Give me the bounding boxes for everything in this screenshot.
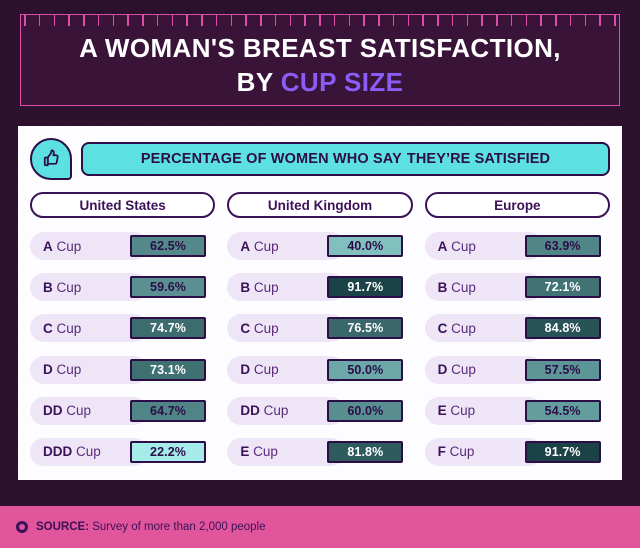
table-row: A Cup63.9% — [425, 232, 610, 260]
cup-size-label: E Cup — [425, 403, 476, 418]
source-label: SOURCE: — [36, 521, 89, 533]
infographic-stage: A WOMAN'S BREAST SATISFACTION, BY CUP SI… — [0, 0, 640, 548]
table-row: B Cup72.1% — [425, 273, 610, 301]
banner-text-heavy: THEY’RE SATISFIED — [407, 151, 550, 167]
cup-word: Cup — [53, 280, 82, 295]
column-united-states: United StatesA Cup62.5%B Cup59.6%C Cup74… — [30, 192, 215, 470]
column-europe: EuropeA Cup63.9%B Cup72.1%C Cup84.8%D Cu… — [425, 192, 610, 470]
cup-size-label: C Cup — [227, 321, 278, 336]
cup-word: Cup — [447, 362, 476, 377]
table-row: DD Cup60.0% — [227, 397, 412, 425]
cup-letter: C — [43, 321, 53, 336]
cup-letter: DD — [43, 403, 63, 418]
percentage-bar: 50.0% — [327, 359, 403, 381]
percentage-bar: 72.1% — [525, 276, 601, 298]
percentage-bar: 91.7% — [525, 441, 601, 463]
thumbs-up-icon — [30, 138, 72, 180]
cup-letter: B — [438, 280, 448, 295]
title-frame: A WOMAN'S BREAST SATISFACTION, BY CUP SI… — [20, 14, 620, 106]
page-title: A WOMAN'S BREAST SATISFACTION, BY CUP SI… — [21, 32, 619, 100]
cup-word: Cup — [53, 321, 82, 336]
percentage-bar: 22.2% — [130, 441, 206, 463]
cup-letter: A — [43, 239, 53, 254]
cup-letter: A — [438, 239, 448, 254]
cup-size-label: B Cup — [30, 280, 81, 295]
cup-letter: E — [240, 444, 249, 459]
cup-word: Cup — [250, 239, 279, 254]
column-header[interactable]: United States — [30, 192, 215, 218]
cup-word: Cup — [63, 403, 92, 418]
cup-letter: B — [240, 280, 250, 295]
cup-size-label: C Cup — [425, 321, 476, 336]
table-row: E Cup54.5% — [425, 397, 610, 425]
banner-row: PERCENTAGE OF WOMEN WHO SAY THEY’RE SATI… — [30, 138, 610, 180]
cup-letter: C — [438, 321, 448, 336]
percentage-bar: 64.7% — [130, 400, 206, 422]
title-line-1: A WOMAN'S BREAST SATISFACTION, — [21, 32, 619, 66]
column-united-kingdom: United KingdomA Cup40.0%B Cup91.7%C Cup7… — [227, 192, 412, 470]
banner-label: PERCENTAGE OF WOMEN WHO SAY THEY’RE SATI… — [81, 142, 610, 176]
title-line-2-accent: CUP SIZE — [281, 67, 404, 97]
cup-letter: B — [43, 280, 53, 295]
title-line-2-prefix: BY — [237, 67, 273, 97]
table-row: DD Cup64.7% — [30, 397, 215, 425]
percentage-bar: 91.7% — [327, 276, 403, 298]
percentage-bar: 62.5% — [130, 235, 206, 257]
cup-size-label: A Cup — [227, 239, 278, 254]
cup-size-label: D Cup — [227, 362, 278, 377]
column-rows: A Cup40.0%B Cup91.7%C Cup76.5%D Cup50.0%… — [227, 232, 412, 470]
cup-size-label: C Cup — [30, 321, 81, 336]
cup-size-label: DDD Cup — [30, 444, 101, 459]
cup-letter: D — [438, 362, 448, 377]
cup-word: Cup — [250, 280, 279, 295]
source-footer: SOURCE: Survey of more than 2,000 people — [0, 506, 640, 548]
percentage-bar: 74.7% — [130, 317, 206, 339]
table-row: C Cup76.5% — [227, 314, 412, 342]
table-row: B Cup91.7% — [227, 273, 412, 301]
cup-word: Cup — [249, 444, 278, 459]
banner-text-light: PERCENTAGE OF WOMEN WHO SAY — [141, 151, 402, 167]
percentage-bar: 54.5% — [525, 400, 601, 422]
percentage-bar: 76.5% — [327, 317, 403, 339]
cup-size-label: F Cup — [425, 444, 475, 459]
cup-letter: D — [240, 362, 250, 377]
cup-word: Cup — [447, 321, 476, 336]
source-ring-icon — [16, 521, 28, 533]
cup-size-label: D Cup — [425, 362, 476, 377]
cup-letter: A — [240, 239, 250, 254]
cup-word: Cup — [447, 239, 476, 254]
cup-size-label: A Cup — [30, 239, 81, 254]
cup-letter: C — [240, 321, 250, 336]
cup-size-label: DD Cup — [227, 403, 288, 418]
cup-size-label: D Cup — [30, 362, 81, 377]
table-row: D Cup50.0% — [227, 356, 412, 384]
table-row: F Cup91.7% — [425, 438, 610, 466]
cup-letter: DD — [240, 403, 260, 418]
cup-size-label: A Cup — [425, 239, 476, 254]
cup-size-label: B Cup — [227, 280, 278, 295]
percentage-bar: 57.5% — [525, 359, 601, 381]
percentage-bar: 40.0% — [327, 235, 403, 257]
cup-letter: D — [43, 362, 53, 377]
cup-word: Cup — [53, 239, 82, 254]
ruler-ticks — [21, 15, 619, 26]
table-row: D Cup57.5% — [425, 356, 610, 384]
column-header[interactable]: Europe — [425, 192, 610, 218]
source-text: SOURCE: Survey of more than 2,000 people — [36, 521, 266, 533]
column-rows: A Cup63.9%B Cup72.1%C Cup84.8%D Cup57.5%… — [425, 232, 610, 470]
cup-word: Cup — [72, 444, 101, 459]
percentage-bar: 59.6% — [130, 276, 206, 298]
column-header[interactable]: United Kingdom — [227, 192, 412, 218]
cup-size-label: B Cup — [425, 280, 476, 295]
percentage-bar: 60.0% — [327, 400, 403, 422]
content-card: PERCENTAGE OF WOMEN WHO SAY THEY’RE SATI… — [18, 126, 622, 480]
table-row: B Cup59.6% — [30, 273, 215, 301]
percentage-bar: 81.8% — [327, 441, 403, 463]
table-row: D Cup73.1% — [30, 356, 215, 384]
cup-word: Cup — [250, 321, 279, 336]
percentage-bar: 73.1% — [130, 359, 206, 381]
cup-size-label: E Cup — [227, 444, 278, 459]
percentage-bar: 63.9% — [525, 235, 601, 257]
cup-word: Cup — [447, 403, 476, 418]
cup-size-label: DD Cup — [30, 403, 91, 418]
table-row: C Cup84.8% — [425, 314, 610, 342]
table-row: E Cup81.8% — [227, 438, 412, 466]
table-row: A Cup62.5% — [30, 232, 215, 260]
table-row: C Cup74.7% — [30, 314, 215, 342]
table-row: A Cup40.0% — [227, 232, 412, 260]
cup-word: Cup — [250, 362, 279, 377]
cup-letter: E — [438, 403, 447, 418]
cup-word: Cup — [447, 280, 476, 295]
cup-word: Cup — [446, 444, 475, 459]
table-row: DDD Cup22.2% — [30, 438, 215, 466]
title-line-2: BY CUP SIZE — [21, 66, 619, 100]
cup-letter: F — [438, 444, 446, 459]
cup-word: Cup — [260, 403, 289, 418]
column-rows: A Cup62.5%B Cup59.6%C Cup74.7%D Cup73.1%… — [30, 232, 215, 470]
data-columns: United StatesA Cup62.5%B Cup59.6%C Cup74… — [30, 192, 610, 470]
source-detail: Survey of more than 2,000 people — [92, 521, 265, 533]
cup-word: Cup — [53, 362, 82, 377]
percentage-bar: 84.8% — [525, 317, 601, 339]
cup-letter: DDD — [43, 444, 72, 459]
